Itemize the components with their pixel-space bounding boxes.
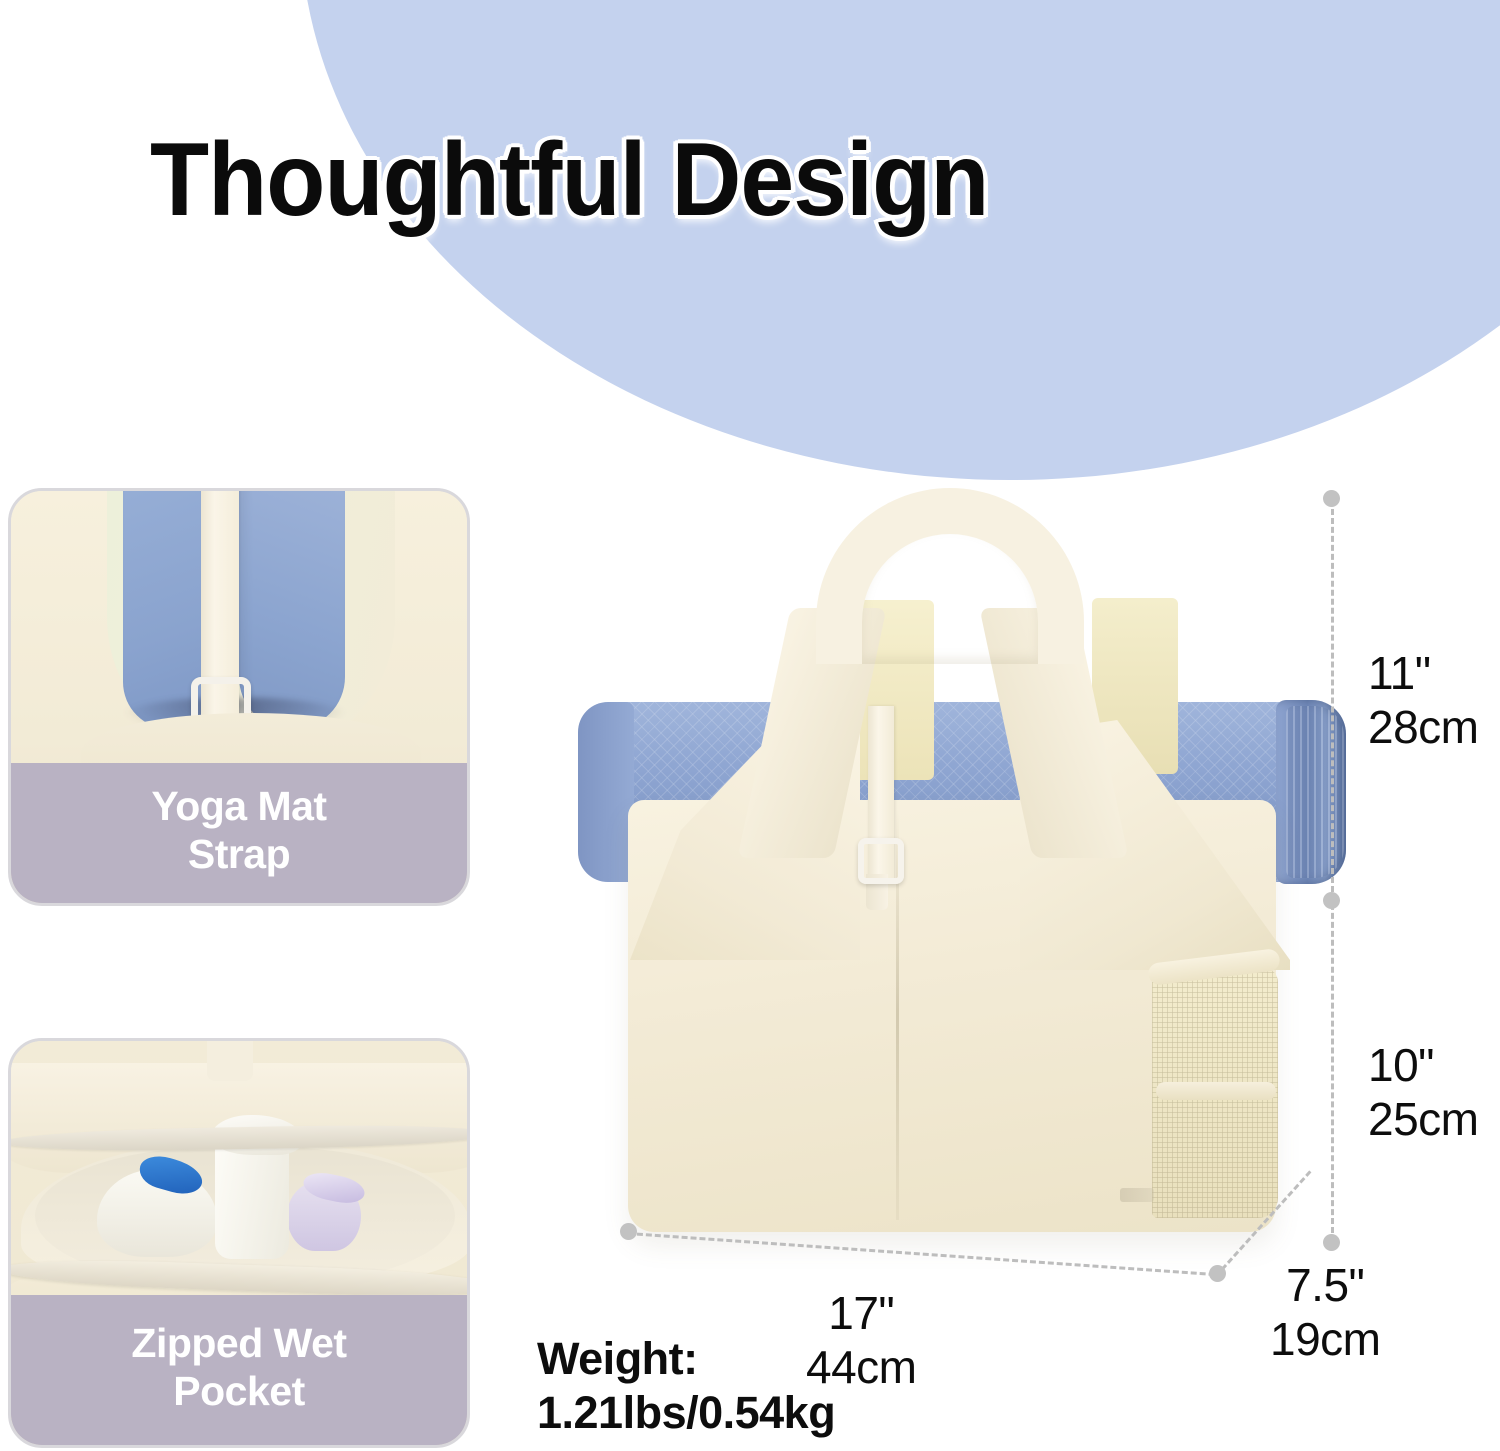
- weight-value-text: 1.21lbs/0.54kg: [537, 1386, 835, 1440]
- dimension-metric: 19cm: [1270, 1312, 1380, 1366]
- product-photo-main: [600, 470, 1360, 1270]
- dimension-inches: 7.5": [1270, 1258, 1380, 1312]
- weight-label-text: Weight:: [537, 1332, 835, 1386]
- caption-line-2: Strap: [188, 831, 290, 879]
- mat-strap-buckle-icon: [858, 838, 904, 884]
- caption-line-1: Yoga Mat: [151, 783, 326, 831]
- bag-handle: [760, 488, 1140, 818]
- dimension-endpoint-dot: [1209, 1265, 1226, 1282]
- dimension-endpoint-dot: [1323, 892, 1340, 909]
- dimension-endpoint-dot: [1323, 1234, 1340, 1251]
- weight-info: Weight: 1.21lbs/0.54kg: [537, 1332, 835, 1440]
- dimension-metric: 28cm: [1368, 700, 1478, 754]
- dimension-inches: 10": [1368, 1038, 1478, 1092]
- dimension-line-vertical: [1331, 500, 1334, 1242]
- feature-card-yoga-mat-strap: Yoga Mat Strap: [8, 488, 470, 906]
- brand-logo: [1120, 1188, 1154, 1202]
- feature-card-caption: Yoga Mat Strap: [11, 763, 467, 903]
- dimension-inches: 11": [1368, 646, 1478, 700]
- page-title: Thoughtful Design: [150, 128, 988, 232]
- feature-card-zipped-wet-pocket: Zipped Wet Pocket: [8, 1038, 470, 1448]
- caption-line-1: Zipped Wet: [131, 1320, 346, 1368]
- dimension-label-depth: 7.5" 19cm: [1270, 1258, 1380, 1367]
- header-blob-shape: [300, 0, 1500, 480]
- caption-line-2: Pocket: [173, 1368, 304, 1416]
- dimension-endpoint-dot: [1323, 490, 1340, 507]
- feature-card-caption: Zipped Wet Pocket: [11, 1295, 467, 1445]
- dimension-label-height: 11" 28cm: [1368, 646, 1478, 755]
- dimension-endpoint-dot: [620, 1223, 637, 1240]
- dimension-label-front-depth: 10" 25cm: [1368, 1038, 1478, 1147]
- dimension-metric: 25cm: [1368, 1092, 1478, 1146]
- infographic-canvas: Thoughtful Design Yoga Mat Strap: [0, 0, 1500, 1451]
